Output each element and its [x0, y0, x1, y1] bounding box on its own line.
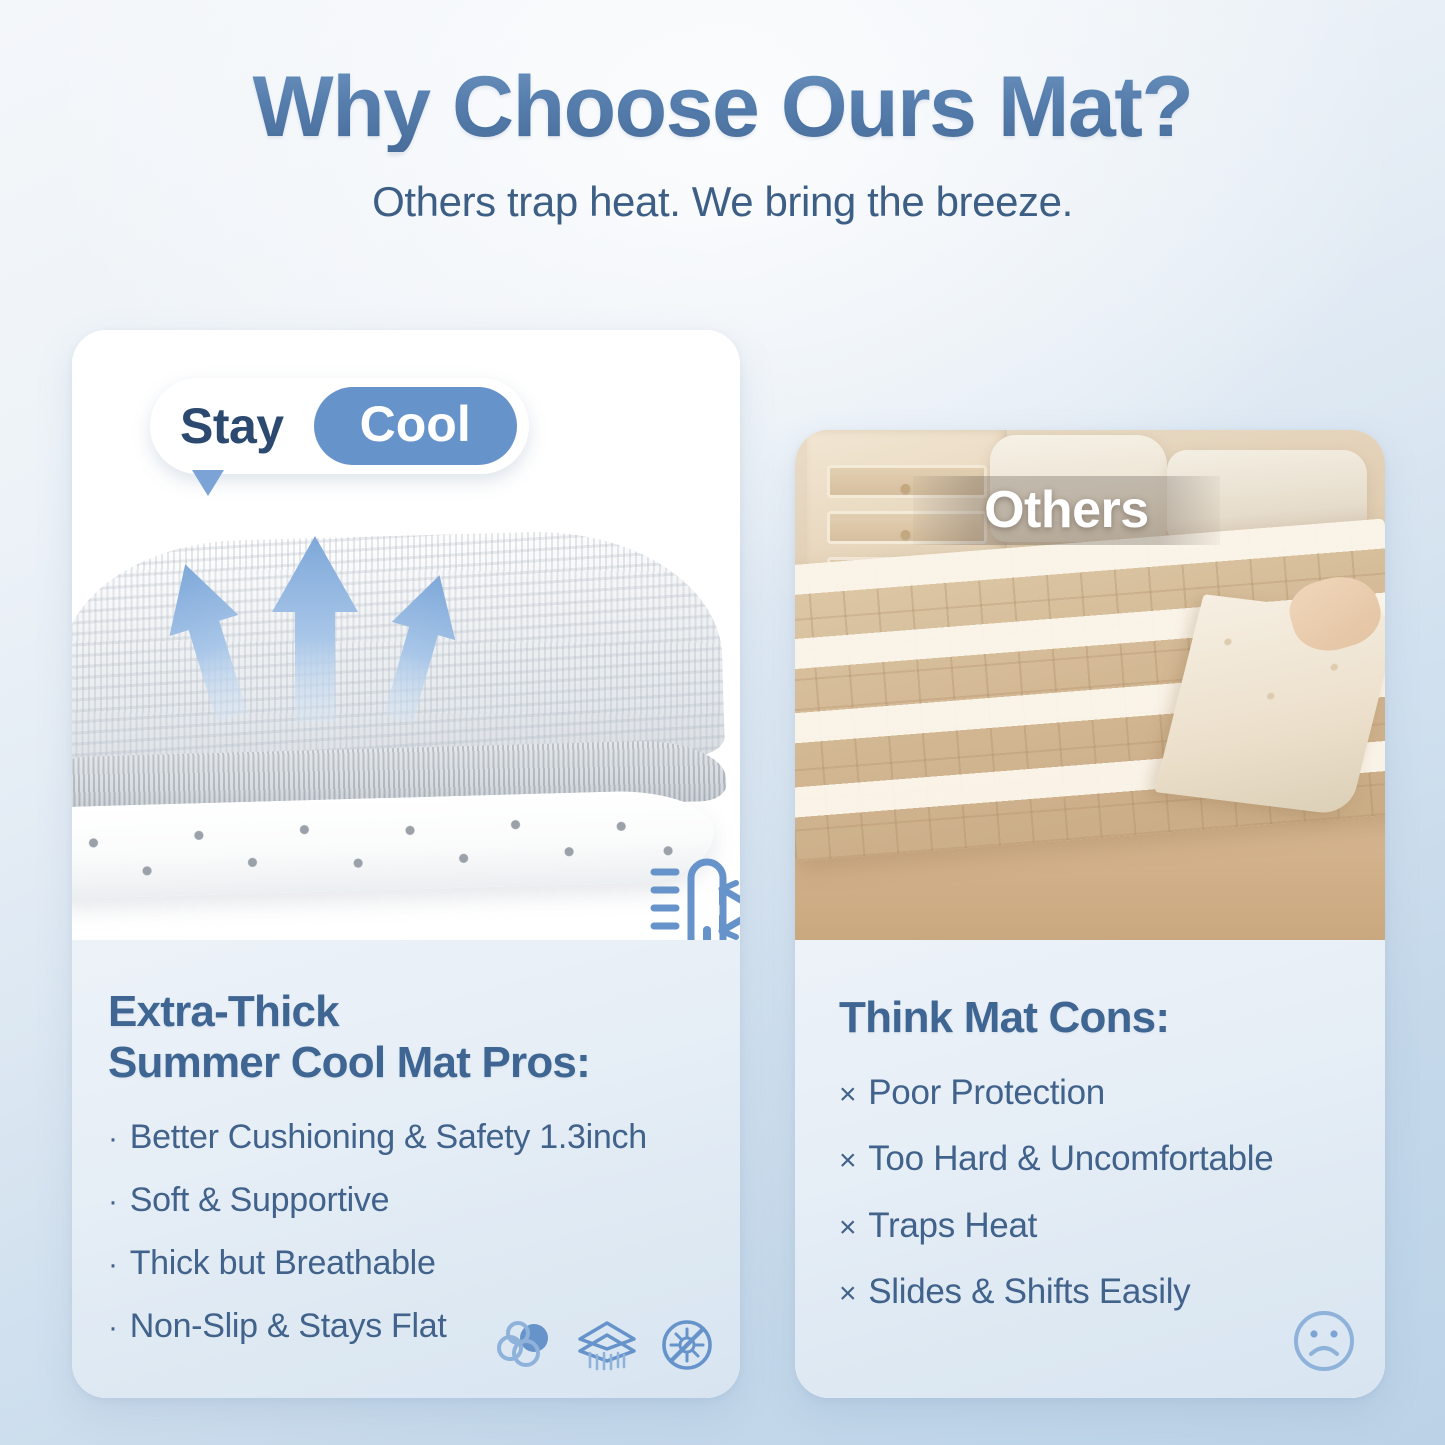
comparison-cards: Extra-Thick Summer Cool Mat Pros: · Bett…: [0, 0, 1445, 1445]
list-item: · Soft & Supportive: [108, 1181, 704, 1220]
others-overlay-label: Others: [913, 476, 1220, 545]
bullet-marker: ·: [108, 1185, 118, 1220]
feature-icons: [496, 1318, 714, 1372]
cons-title: Think Mat Cons:: [839, 992, 1347, 1043]
bullet-marker: ·: [108, 1248, 118, 1283]
bullet-text: Soft & Supportive: [130, 1181, 390, 1220]
stay-cool-badge: Stay Cool: [150, 378, 529, 474]
competitor-photo: Others: [795, 430, 1385, 940]
bullet-text: Poor Protection: [868, 1073, 1105, 1113]
cloud-soft-icon: [496, 1320, 554, 1370]
bullet-marker: ·: [108, 1122, 118, 1157]
bullet-text: Too Hard & Uncomfortable: [868, 1139, 1273, 1179]
list-item: · Better Cushioning & Safety 1.3inch: [108, 1118, 704, 1157]
bullet-marker: ×: [839, 1211, 856, 1246]
pros-panel: Extra-Thick Summer Cool Mat Pros: · Bett…: [72, 940, 740, 1398]
cons-list: × Poor Protection × Too Hard & Uncomfort…: [839, 1073, 1347, 1312]
list-item: × Too Hard & Uncomfortable: [839, 1139, 1347, 1179]
pros-title: Extra-Thick Summer Cool Mat Pros:: [108, 986, 704, 1088]
temperature-icons: [628, 842, 740, 940]
bed-photo: Others: [795, 430, 1385, 940]
mat-foam-base: [72, 789, 715, 899]
bullet-text: Better Cushioning & Safety 1.3inch: [130, 1118, 647, 1157]
bullet-text: Thick but Breathable: [130, 1244, 436, 1283]
pros-title-line2: Summer Cool Mat Pros:: [108, 1037, 704, 1088]
bullet-marker: ×: [839, 1144, 856, 1179]
list-item: · Thick but Breathable: [108, 1244, 704, 1283]
cons-card: Others Think Mat Cons: × Poor Protection…: [795, 430, 1385, 1398]
list-item: × Poor Protection: [839, 1073, 1347, 1113]
badge-pointer: [192, 470, 224, 496]
airflow-arrows-icon: [72, 526, 740, 786]
others-label-text: Others: [984, 480, 1149, 540]
bullet-text: Non-Slip & Stays Flat: [130, 1307, 447, 1346]
cons-panel: Think Mat Cons: × Poor Protection × Too …: [795, 940, 1385, 1398]
pros-title-line1: Extra-Thick: [108, 986, 704, 1037]
badge-cool-label: Cool: [314, 387, 517, 465]
list-item: × Traps Heat: [839, 1206, 1347, 1246]
pros-card: Extra-Thick Summer Cool Mat Pros: · Bett…: [72, 330, 740, 1398]
list-item: × Slides & Shifts Easily: [839, 1272, 1347, 1312]
sad-face-icon: [1291, 1308, 1357, 1374]
bullet-text: Slides & Shifts Easily: [868, 1272, 1190, 1312]
bullet-marker: ×: [839, 1078, 856, 1113]
pros-list: · Better Cushioning & Safety 1.3inch · S…: [108, 1118, 704, 1346]
anti-mite-icon: [660, 1318, 714, 1372]
badge-stay-label: Stay: [180, 397, 314, 455]
bullet-marker: ·: [108, 1311, 118, 1346]
breathable-layers-icon: [576, 1319, 638, 1371]
bullet-marker: ×: [839, 1277, 856, 1312]
bullet-text: Traps Heat: [868, 1206, 1037, 1246]
